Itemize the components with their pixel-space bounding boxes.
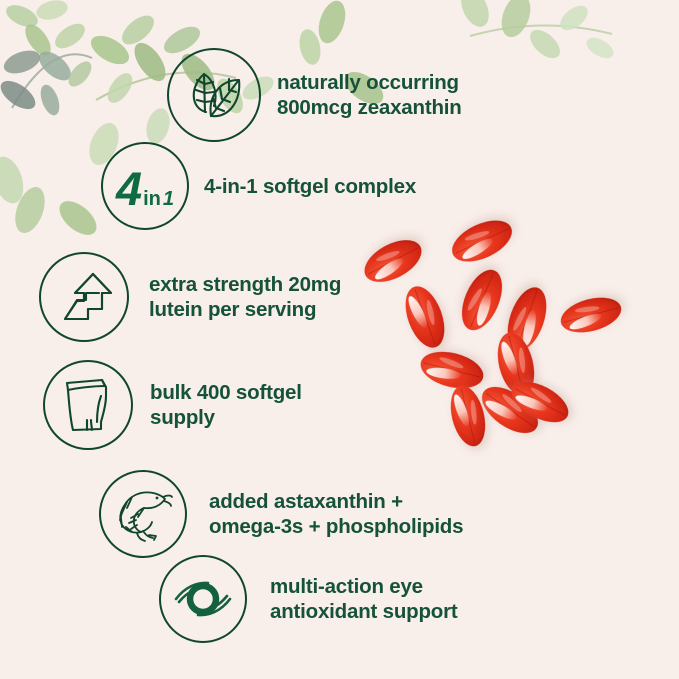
softgel-capsule [505,373,575,430]
four-in-one-word-in: in [143,189,161,209]
eye-icon-badge [159,555,247,643]
softgel-capsule [446,212,518,270]
softgel-capsule [417,346,487,394]
four-in-one-badge: 4 in 1 [101,142,189,230]
feature-row-astaxanthin: added astaxanthin + omega-3s + phospholi… [99,470,463,558]
four-in-one-mark: 4 in 1 [116,165,174,212]
four-in-one-number: 4 [116,165,141,212]
product-infographic: naturally occurring 800mcg zeaxanthin 4 … [0,0,679,679]
zigzag-arrow-up-icon-badge [39,252,129,342]
shrimp-icon [113,486,173,542]
shrimp-icon-badge [99,470,187,558]
pouch-icon [61,376,115,434]
softgel-capsule [454,264,510,336]
feature-label-four-in-one: 4-in-1 softgel complex [204,174,416,199]
feature-label-eye-antioxidant: multi-action eye antioxidant support [270,574,458,624]
feature-label-bulk-supply: bulk 400 softgel supply [150,380,302,430]
softgel-capsule [492,329,540,399]
feature-label-zeaxanthin: naturally occurring 800mcg zeaxanthin [277,70,462,120]
softgel-capsule [358,231,429,290]
feature-label-astaxanthin: added astaxanthin + omega-3s + phospholi… [209,489,463,539]
feature-row-bulk-supply: bulk 400 softgel supply [43,360,302,450]
four-in-one-number-one: 1 [163,189,174,209]
softgel-capsule [474,378,546,443]
feature-row-eye-antioxidant: multi-action eye antioxidant support [159,555,458,643]
feature-label-extra-strength: extra strength 20mg lutein per serving [149,272,341,322]
softgel-capsule [557,292,625,339]
feature-row-zeaxanthin: naturally occurring 800mcg zeaxanthin [167,48,462,142]
softgel-capsule [445,382,491,450]
feature-row-four-in-one: 4 in 1 4-in-1 softgel complex [101,142,416,230]
softgel-capsule [398,281,452,353]
softgel-capsule [500,282,554,355]
zigzag-arrow-up-icon [55,268,113,326]
leaves-icon-badge [167,48,261,142]
feature-row-extra-strength: extra strength 20mg lutein per serving [39,252,341,342]
eye-icon [172,579,234,619]
leaves-icon [184,66,244,124]
pouch-icon-badge [43,360,133,450]
